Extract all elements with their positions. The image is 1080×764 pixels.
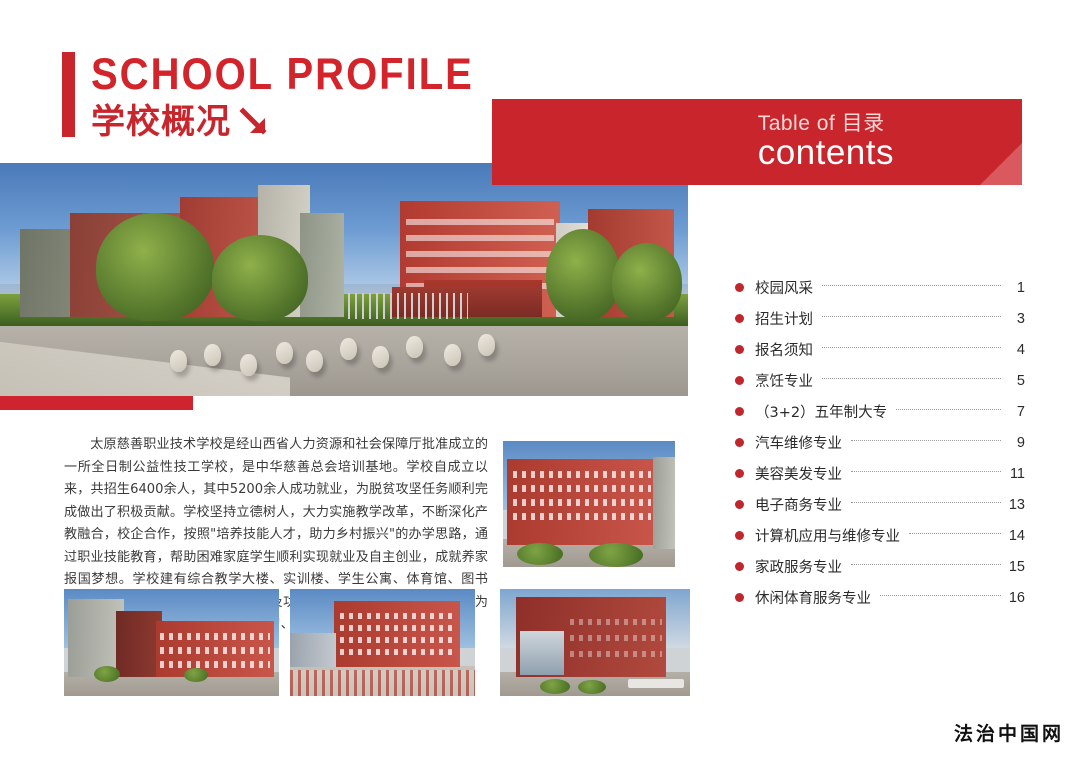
hero-window-row: [406, 267, 554, 273]
photo-window-row: [160, 633, 270, 640]
photo-glass-entrance: [520, 631, 564, 675]
photo-window-row: [570, 651, 662, 657]
toc-item[interactable]: 烹饪专业5: [735, 365, 1025, 396]
arrow-down-right-icon: [239, 105, 273, 139]
photo-shrub: [540, 679, 570, 694]
toc-item[interactable]: 家政服务专业15: [735, 551, 1025, 582]
photo-window-row: [513, 471, 651, 478]
title-chinese: 学校概况: [91, 105, 231, 139]
toc-bullet-icon: [735, 376, 744, 385]
photo-main-building-assembly: [290, 589, 475, 696]
toc-item[interactable]: 休闲体育服务专业16: [735, 582, 1025, 613]
hero-bollard: [340, 338, 357, 360]
hero-bollard: [240, 354, 257, 376]
toc-banner-text: Table of 目录 contents: [758, 113, 894, 172]
table-of-contents: 校园风采1招生计划3报名须知4烹饪专业5（3+2）五年制大专7汽车维修专业9美容…: [735, 272, 1025, 613]
hero-window-row: [406, 219, 554, 225]
photo-dormitory: [503, 441, 675, 567]
hero-fence: [348, 293, 468, 319]
toc-leader-dots: [896, 409, 1001, 410]
toc-leader-dots: [851, 471, 1001, 472]
toc-banner-title: contents: [758, 135, 894, 172]
toc-item-page: 4: [1008, 342, 1025, 358]
toc-item-label: 报名须知: [755, 339, 813, 360]
toc-banner: Table of 目录 contents: [492, 99, 1022, 185]
toc-item-page: 15: [1008, 559, 1025, 575]
toc-banner-subtitle-cn: 目录: [842, 111, 885, 135]
banner-fold-corner-icon: [980, 143, 1022, 185]
photo-shrub: [94, 666, 120, 682]
toc-item-page: 13: [1008, 497, 1025, 513]
hero-bollard: [478, 334, 495, 356]
toc-item[interactable]: 电子商务专业13: [735, 489, 1025, 520]
toc-item[interactable]: 校园风采1: [735, 272, 1025, 303]
hero-bollard: [372, 346, 389, 368]
toc-item-label: 校园风采: [755, 277, 813, 298]
toc-item-page: 11: [1008, 466, 1025, 482]
toc-bullet-icon: [735, 345, 744, 354]
photo-window-row: [513, 485, 651, 492]
toc-item-page: 9: [1008, 435, 1025, 451]
toc-leader-dots: [851, 564, 1001, 565]
toc-item-page: 7: [1008, 404, 1025, 420]
toc-item-page: 16: [1008, 590, 1025, 606]
toc-item[interactable]: （3+2）五年制大专7: [735, 396, 1025, 427]
toc-item-label: 电子商务专业: [755, 494, 842, 515]
toc-item-label: （3+2）五年制大专: [755, 401, 887, 422]
toc-bullet-icon: [735, 562, 744, 571]
photo-window-row: [570, 635, 662, 641]
photo-parked-cars: [628, 679, 684, 688]
toc-leader-dots: [822, 378, 1001, 379]
toc-bullet-icon: [735, 407, 744, 416]
hero-tree: [212, 235, 308, 321]
photo-building-wing: [653, 457, 675, 549]
photo-window-row: [340, 649, 454, 655]
toc-leader-dots: [822, 347, 1001, 348]
toc-item[interactable]: 报名须知4: [735, 334, 1025, 365]
brochure-page: SCHOOL PROFILE 学校概况: [0, 0, 1080, 764]
photo-window-row: [570, 619, 662, 625]
toc-leader-dots: [851, 440, 1001, 441]
hero-campus-photo: [0, 163, 688, 396]
photo-window-row: [160, 647, 270, 654]
photo-shrub: [517, 543, 563, 565]
photo-student-assembly: [290, 670, 475, 696]
title-accent-bar: [62, 52, 75, 137]
toc-leader-dots: [909, 533, 1001, 534]
toc-banner-subtitle-en: Table of: [758, 112, 842, 135]
photo-window-row: [340, 637, 454, 643]
photo-window-row: [340, 625, 454, 631]
photo-window-row: [160, 661, 270, 668]
toc-item-label: 计算机应用与维修专业: [755, 525, 900, 546]
photo-background-city: [290, 633, 336, 667]
hero-building: [300, 213, 344, 317]
toc-leader-dots: [880, 595, 1001, 596]
toc-bullet-icon: [735, 531, 744, 540]
toc-leader-dots: [822, 316, 1001, 317]
hero-bollard: [276, 342, 293, 364]
hero-window-row: [406, 251, 554, 257]
toc-item-label: 休闲体育服务专业: [755, 587, 871, 608]
photo-shrub: [184, 668, 208, 682]
site-watermark: 法治中国网: [954, 719, 1064, 746]
hero-tree: [96, 213, 214, 321]
toc-item[interactable]: 招生计划3: [735, 303, 1025, 334]
toc-bullet-icon: [735, 500, 744, 509]
photo-window-row: [340, 613, 454, 619]
toc-leader-dots: [851, 502, 1001, 503]
hero-tree: [546, 229, 620, 321]
title-chinese-row: 学校概况: [91, 105, 474, 139]
photo-building: [334, 601, 460, 667]
hero-window-row: [406, 235, 554, 241]
toc-item-page: 5: [1008, 373, 1025, 389]
hero-red-accent-bar: [0, 396, 193, 410]
toc-item-page: 3: [1008, 311, 1025, 327]
photo-shrub: [589, 543, 643, 567]
photo-window-row: [513, 513, 651, 520]
toc-item-label: 烹饪专业: [755, 370, 813, 391]
toc-banner-subtitle: Table of 目录: [758, 113, 894, 134]
toc-item-page: 1: [1008, 280, 1025, 296]
toc-item-label: 汽车维修专业: [755, 432, 842, 453]
toc-item[interactable]: 计算机应用与维修专业14: [735, 520, 1025, 551]
toc-bullet-icon: [735, 593, 744, 602]
toc-item-page: 14: [1008, 528, 1025, 544]
toc-bullet-icon: [735, 314, 744, 323]
toc-leader-dots: [822, 285, 1001, 286]
toc-bullet-icon: [735, 469, 744, 478]
title-texts: SCHOOL PROFILE 学校概况: [91, 52, 474, 139]
toc-item-label: 美容美发专业: [755, 463, 842, 484]
hero-bollard: [306, 350, 323, 372]
photo-teaching-building: [64, 589, 279, 696]
hero-bollard: [204, 344, 221, 366]
photo-academic-block: [500, 589, 690, 696]
hero-bollard: [170, 350, 187, 372]
toc-bullet-icon: [735, 283, 744, 292]
toc-item[interactable]: 美容美发专业11: [735, 458, 1025, 489]
toc-item[interactable]: 汽车维修专业9: [735, 427, 1025, 458]
page-title: SCHOOL PROFILE 学校概况: [62, 52, 474, 139]
hero-tree: [612, 243, 682, 321]
toc-bullet-icon: [735, 438, 744, 447]
hero-bollard: [406, 336, 423, 358]
hero-bollard: [444, 344, 461, 366]
toc-item-label: 招生计划: [755, 308, 813, 329]
photo-window-row: [513, 499, 651, 506]
photo-shrub: [578, 680, 606, 694]
title-english: SCHOOL PROFILE: [91, 52, 474, 97]
toc-item-label: 家政服务专业: [755, 556, 842, 577]
